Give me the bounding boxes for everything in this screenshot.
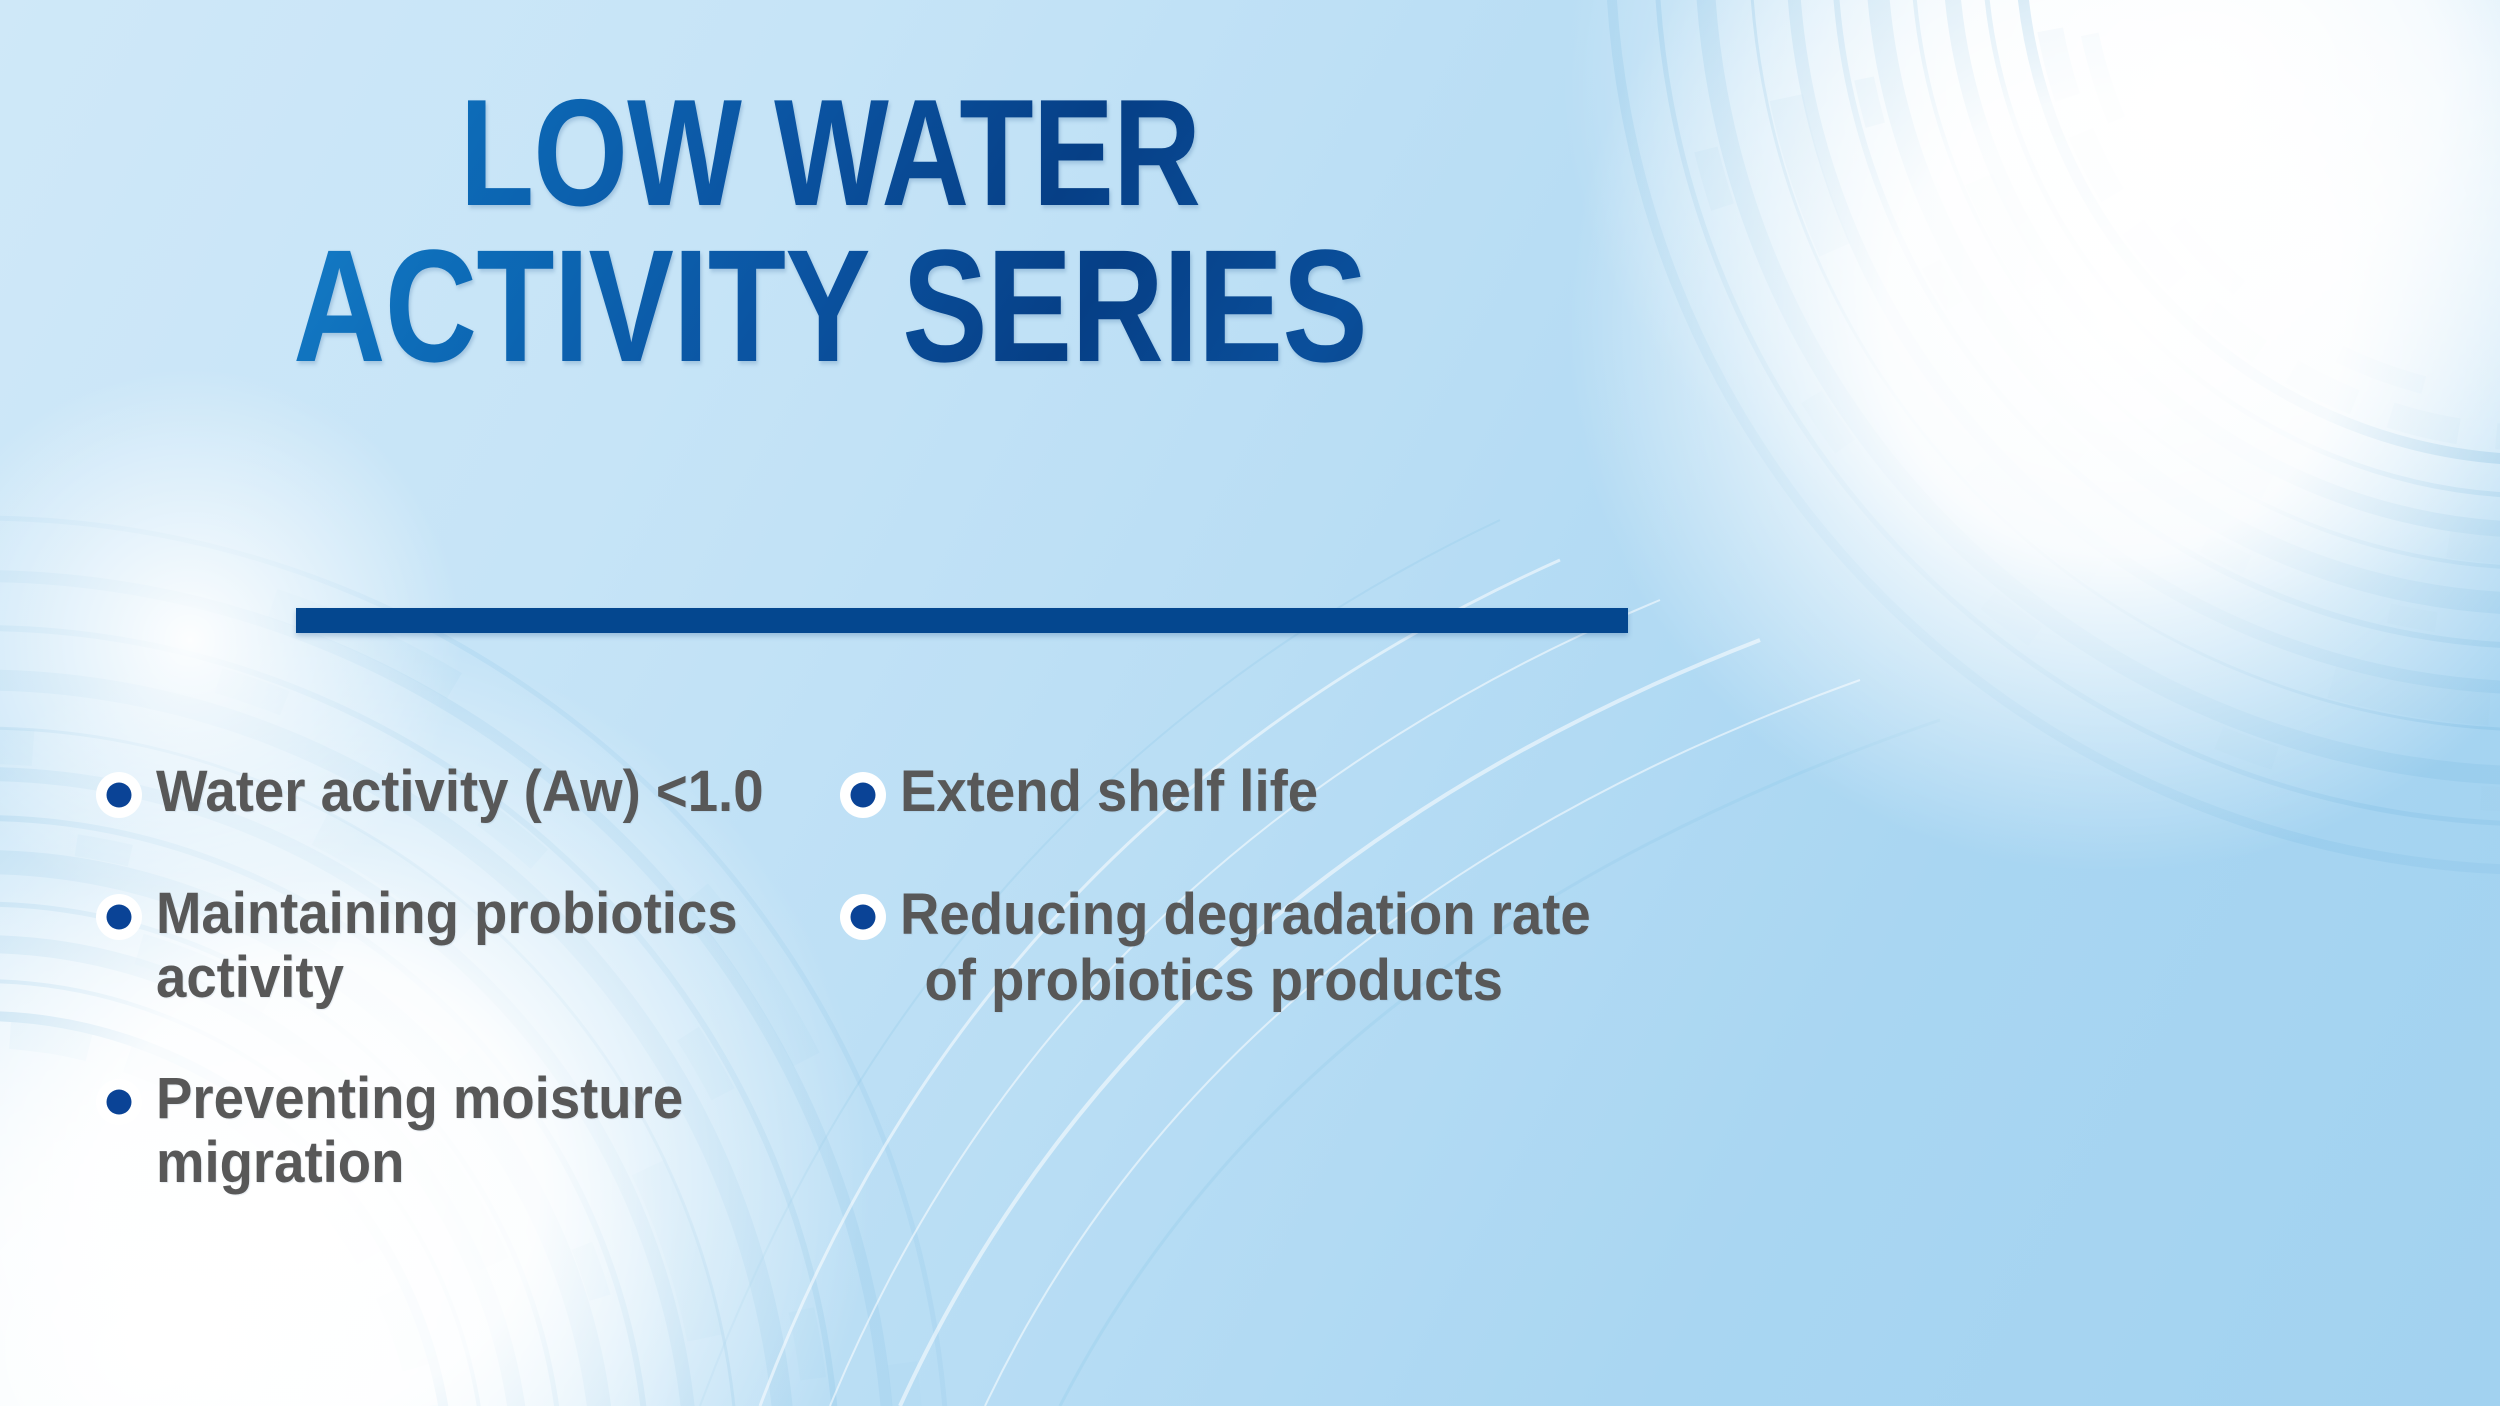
bullet-label: Maintaining probiotics activity: [156, 882, 823, 1010]
bullet-label-line-2: of probiotics products: [900, 948, 1591, 1014]
bullet-column-right: Extend shelf life Reducing degradation r…: [840, 760, 2020, 1072]
bullet-label: Preventing moisture migration: [156, 1067, 823, 1195]
bullet-dot-icon: [840, 772, 886, 818]
title-line-2: ACTIVITY SERIES: [166, 232, 1494, 379]
bullet-label: Water activity (Aw) <1.0: [156, 760, 764, 824]
low-water-activity-banner: LOW WATER ACTIVITY SERIES Water activity…: [0, 0, 2500, 1406]
feature-bullet-list: Water activity (Aw) <1.0 Maintaining pro…: [0, 760, 2500, 1180]
title-line-1: LOW WATER: [166, 84, 1494, 224]
list-item: Water activity (Aw) <1.0: [96, 760, 866, 824]
bullet-dot-icon: [96, 772, 142, 818]
bullet-column-left: Water activity (Aw) <1.0 Maintaining pro…: [96, 760, 866, 1253]
bullet-label: Reducing degradation rate of probiotics …: [900, 882, 1591, 1014]
list-item: Extend shelf life: [840, 760, 2020, 824]
list-item: Preventing moisture migration: [96, 1067, 866, 1195]
title-underline: [296, 608, 1628, 633]
list-item: Maintaining probiotics activity: [96, 882, 866, 1010]
page-title: LOW WATER ACTIVITY SERIES: [0, 84, 1660, 379]
bullet-label: Extend shelf life: [900, 760, 1318, 824]
bullet-label-line-1: Reducing degradation rate: [900, 882, 1591, 947]
bullet-dot-icon: [840, 894, 886, 940]
list-item: Reducing degradation rate of probiotics …: [840, 882, 2020, 1014]
bullet-dot-icon: [96, 894, 142, 940]
bullet-dot-icon: [96, 1079, 142, 1125]
